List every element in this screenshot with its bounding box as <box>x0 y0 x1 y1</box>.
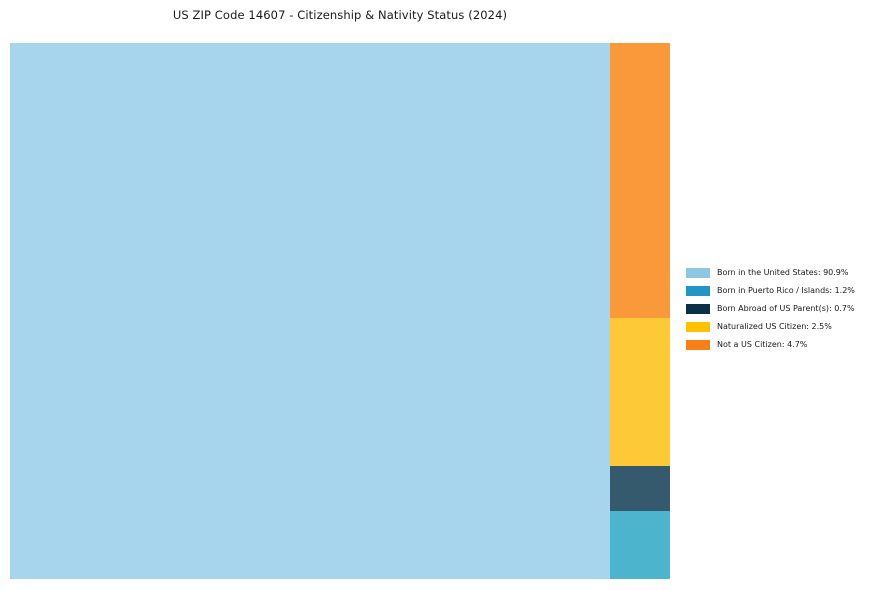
legend-item-label: Not a US Citizen: 4.7% <box>717 340 807 350</box>
legend-swatch-icon <box>686 286 710 296</box>
legend-item-naturalized-us-citizen[interactable]: Naturalized US Citizen: 2.5% <box>686 318 881 336</box>
tile-naturalized-us-citizen[interactable] <box>610 318 670 466</box>
legend-item-label: Born in Puerto Rico / Islands: 1.2% <box>717 286 855 296</box>
mosaic-plot-area <box>10 43 670 579</box>
tile-not-a-us-citizen[interactable] <box>610 43 670 318</box>
legend-swatch-icon <box>686 268 710 278</box>
legend-swatch-icon <box>686 322 710 332</box>
legend-item-born-abroad-of-us-parents[interactable]: Born Abroad of US Parent(s): 0.7% <box>686 300 881 318</box>
chart-legend: Born in the United States: 90.9% Born in… <box>686 264 881 354</box>
native-born-column <box>10 43 610 579</box>
tile-born-in-puerto-rico-islands[interactable] <box>610 511 670 579</box>
tile-born-abroad-of-us-parents[interactable] <box>610 466 670 511</box>
legend-item-born-in-the-united-states[interactable]: Born in the United States: 90.9% <box>686 264 881 282</box>
legend-swatch-icon <box>686 340 710 350</box>
legend-item-born-in-puerto-rico-islands[interactable]: Born in Puerto Rico / Islands: 1.2% <box>686 282 881 300</box>
legend-swatch-icon <box>686 304 710 314</box>
tile-born-in-the-united-states[interactable] <box>10 43 610 579</box>
page-title: US ZIP Code 14607 - Citizenship & Nativi… <box>0 8 680 22</box>
legend-item-label: Born in the United States: 90.9% <box>717 268 848 278</box>
legend-item-not-a-us-citizen[interactable]: Not a US Citizen: 4.7% <box>686 336 881 354</box>
chart-figure: US ZIP Code 14607 - Citizenship & Nativi… <box>0 0 889 590</box>
legend-item-label: Naturalized US Citizen: 2.5% <box>717 322 832 332</box>
other-status-column <box>610 43 670 579</box>
legend-item-label: Born Abroad of US Parent(s): 0.7% <box>717 304 855 314</box>
